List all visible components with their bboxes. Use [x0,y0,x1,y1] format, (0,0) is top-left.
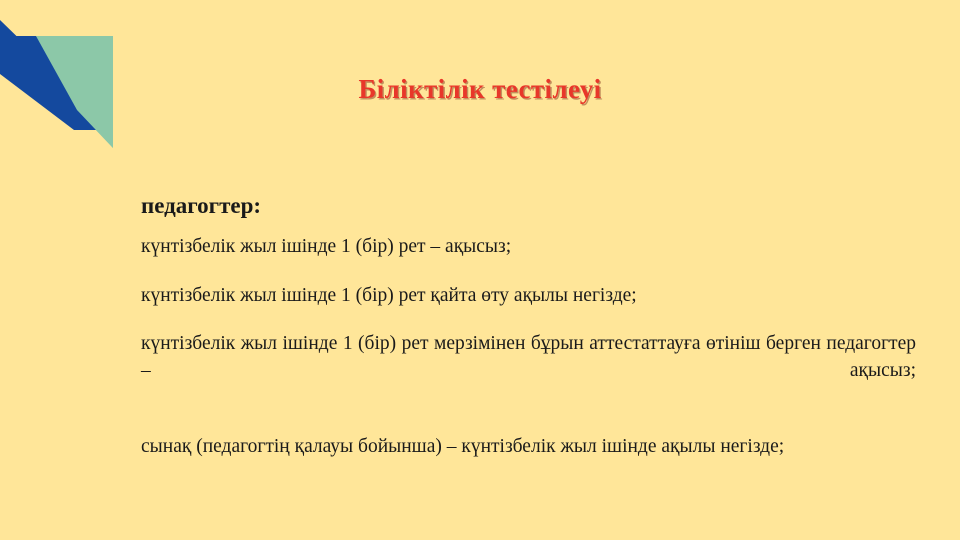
list-item: күнтізбелік жыл ішінде 1 (бір) рет мерзі… [141,331,916,412]
list-item: сынақ (педагогтің қалауы бойынша) – күнт… [141,434,916,461]
body-lead-label: педагогтер: [141,192,916,220]
title-block: Біліктілік тестілеуі [0,74,960,105]
list-item: күнтізбелік жыл ішінде 1 (бір) рет – ақы… [141,234,916,261]
page-title: Біліктілік тестілеуі [358,74,601,105]
list-item: күнтізбелік жыл ішінде 1 (бір) рет қайта… [141,283,916,310]
body-text-block: педагогтер: күнтізбелік жыл ішінде 1 (бі… [141,192,916,461]
slide-canvas: Біліктілік тестілеуі педагогтер: күнтізб… [0,0,960,540]
